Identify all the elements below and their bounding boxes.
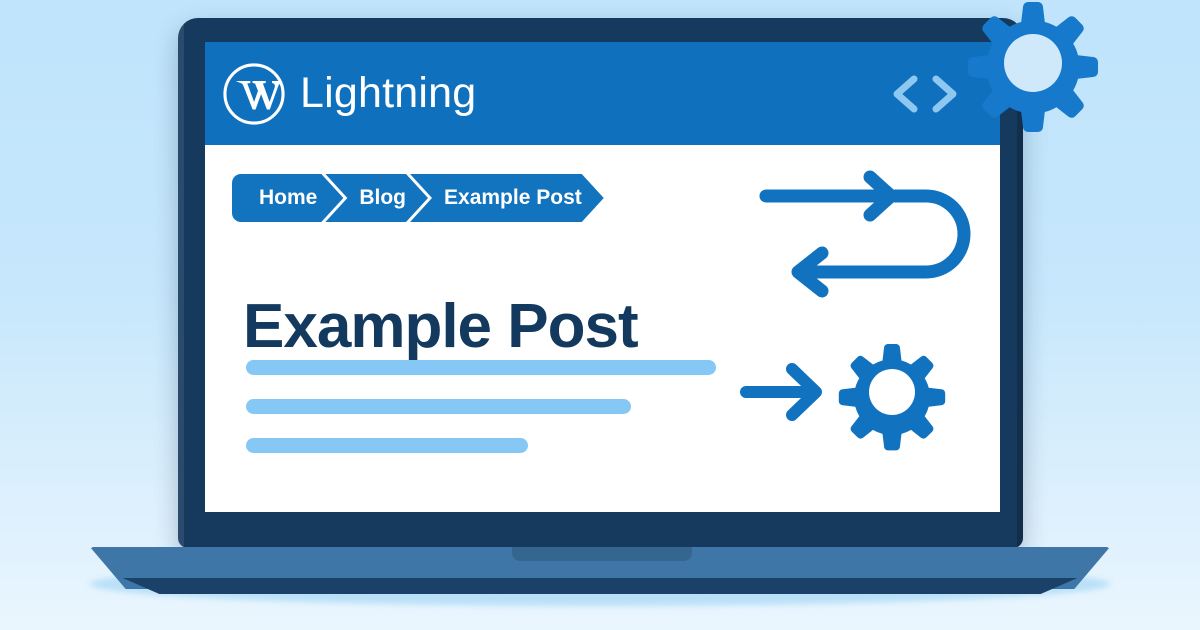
- site-header-bar: Lightning: [205, 42, 1000, 145]
- laptop-base-lip: [90, 578, 1110, 594]
- site-title: Lightning: [300, 72, 476, 115]
- page-title: Example Post: [243, 296, 638, 358]
- placeholder-line: [246, 360, 716, 375]
- laptop-screen: Lightning Home Blog Example Post Example…: [205, 42, 1000, 512]
- breadcrumb-item-home[interactable]: Home: [232, 174, 343, 222]
- gear-icon: [839, 344, 945, 450]
- code-brackets-icon[interactable]: [884, 71, 966, 117]
- breadcrumb-label: Home: [259, 186, 317, 210]
- illustration-canvas: Lightning Home Blog Example Post Example…: [0, 0, 1200, 630]
- breadcrumb-label: Blog: [359, 186, 406, 210]
- gear-icon: [958, 0, 1108, 138]
- arrow-right-icon: [746, 369, 816, 415]
- breadcrumb-label: Example Post: [444, 186, 582, 210]
- post-body-placeholder: [246, 360, 716, 477]
- breadcrumb-item-example-post[interactable]: Example Post: [410, 174, 604, 222]
- placeholder-line: [246, 438, 528, 453]
- redirect-loop-arrow-icon: [758, 164, 983, 304]
- wordpress-logo-icon[interactable]: [223, 63, 285, 125]
- breadcrumb: Home Blog Example Post: [232, 174, 604, 222]
- laptop-base-notch: [512, 547, 692, 561]
- settings-arrow-gear-group: [740, 332, 955, 452]
- placeholder-line: [246, 399, 631, 414]
